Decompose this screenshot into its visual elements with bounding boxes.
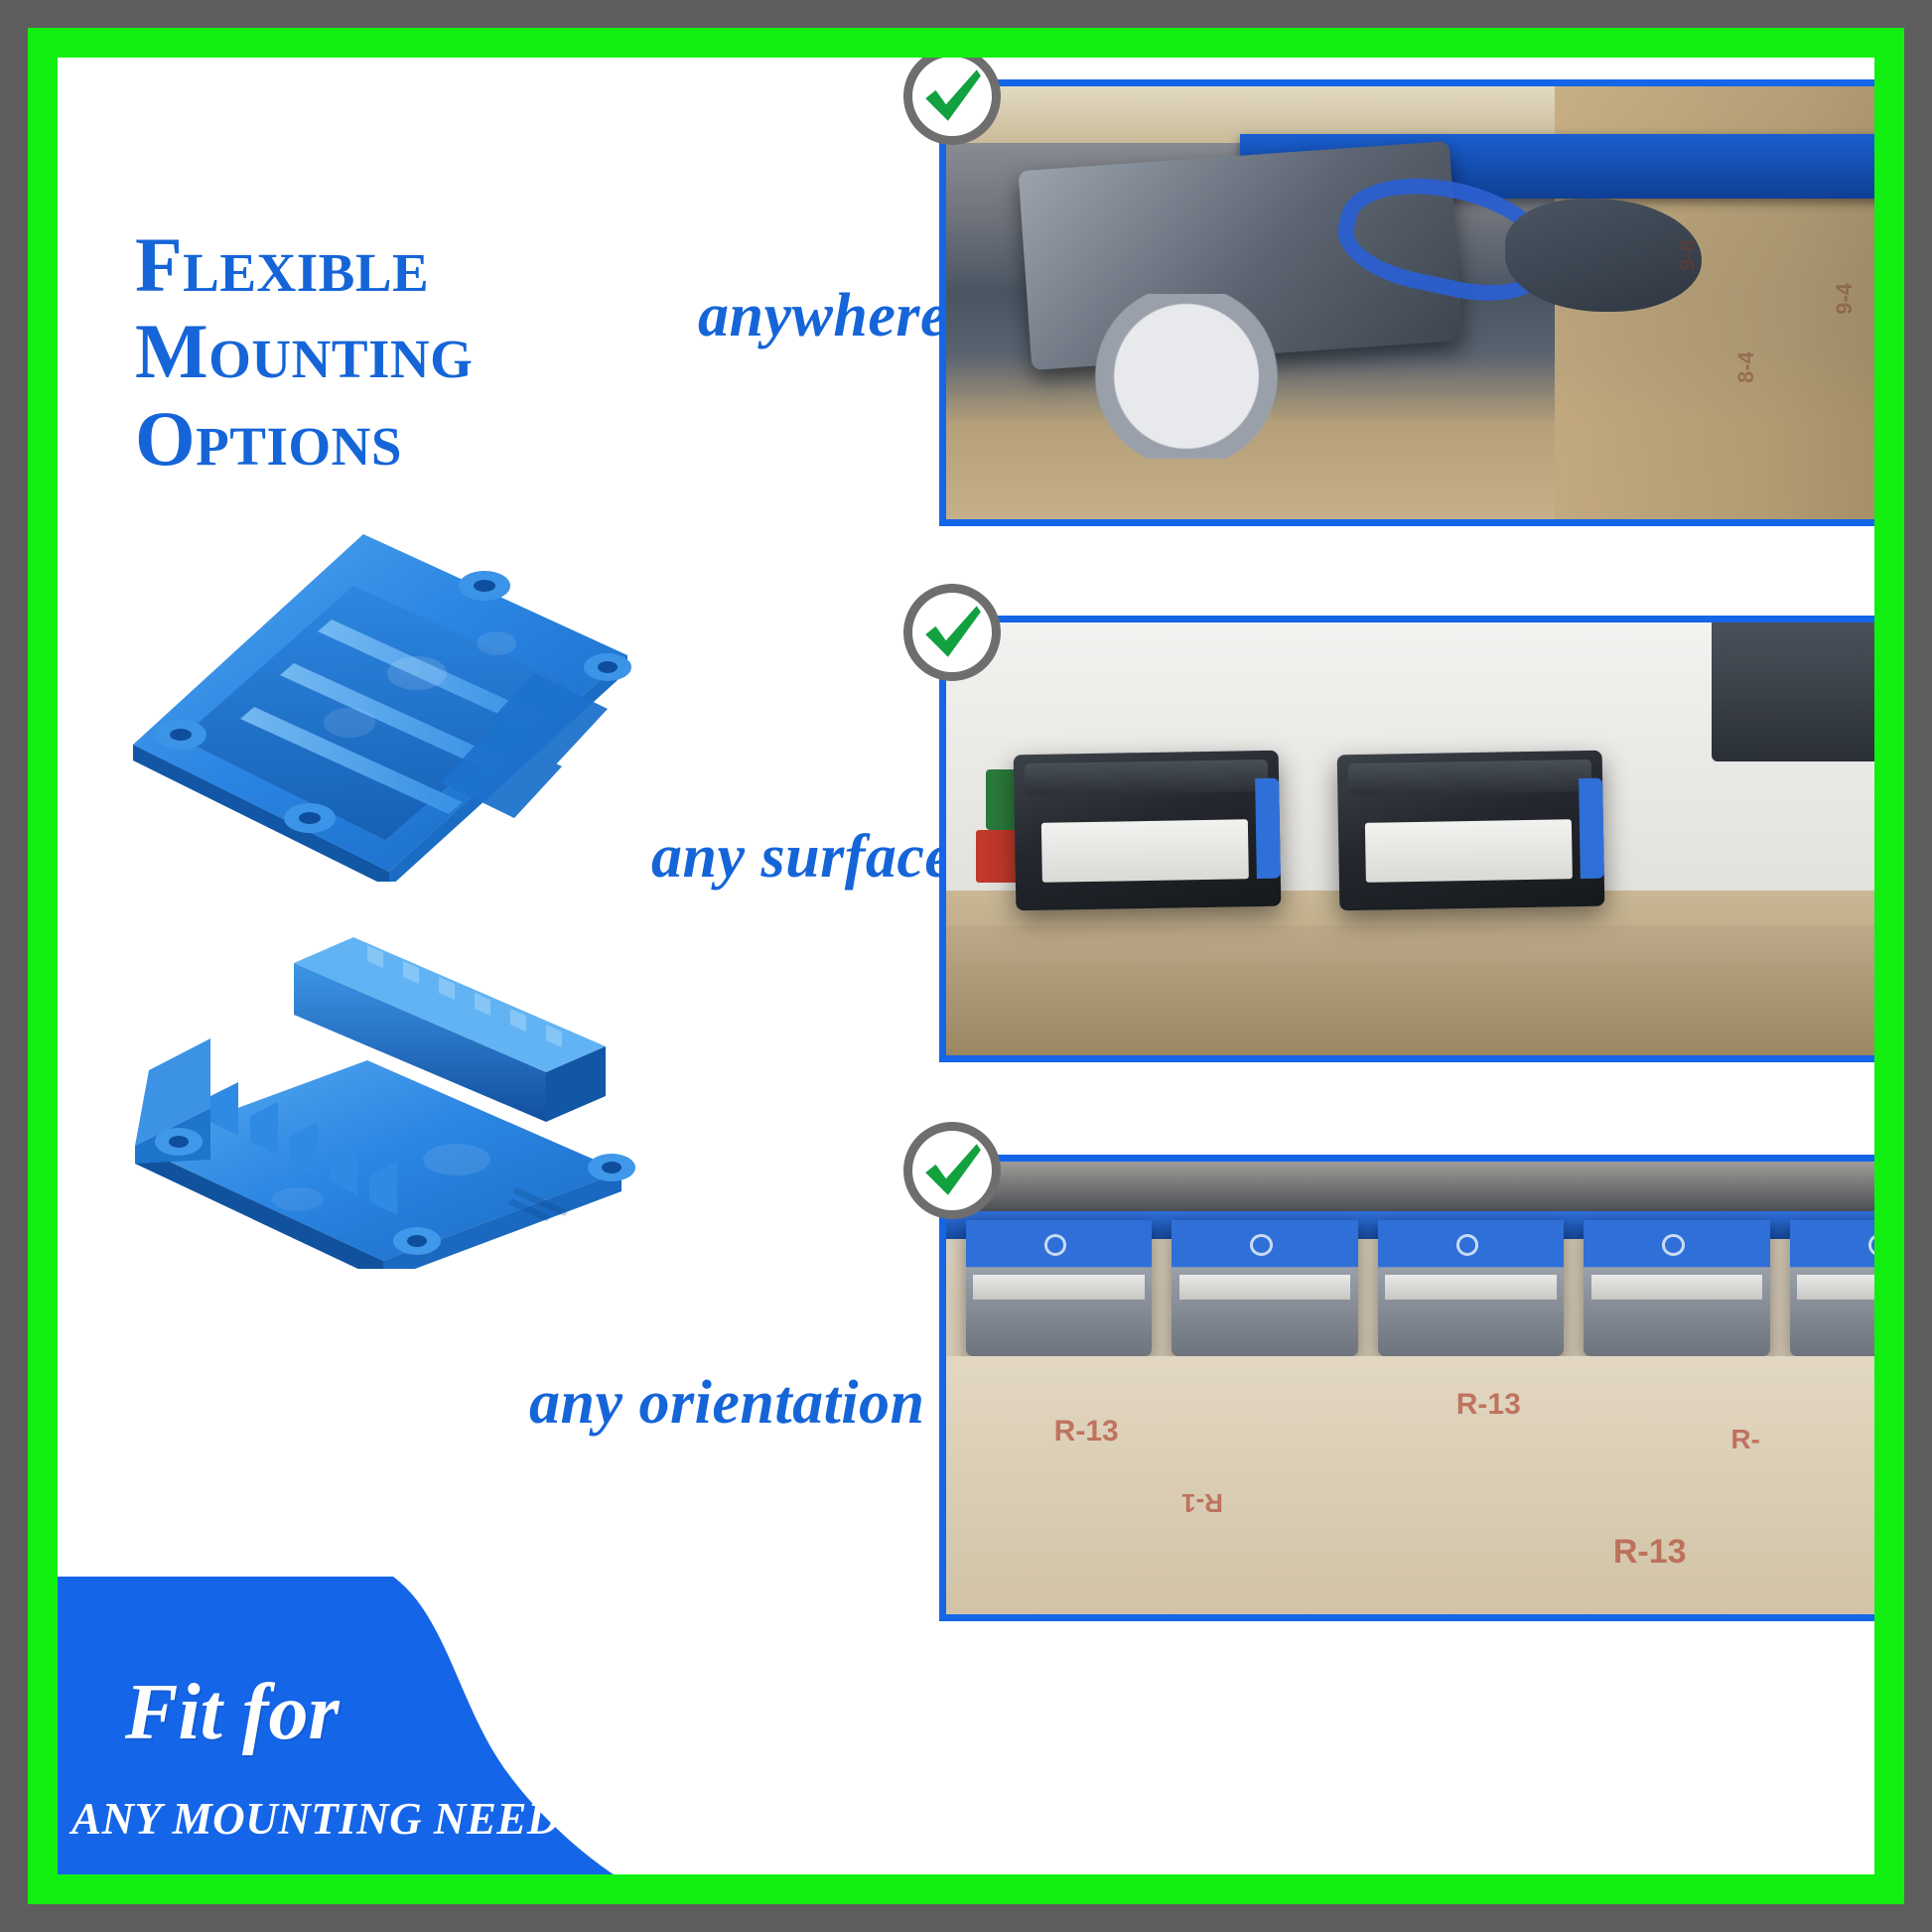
- battery-pack-3: [1378, 1220, 1565, 1356]
- green-check-icon-any-orientation: [903, 1122, 1001, 1219]
- pack-band: [1179, 1275, 1351, 1300]
- headline-line-2: Mounting: [135, 308, 651, 394]
- product-image-bracket-top: [119, 524, 635, 882]
- pack-logo: [1868, 1234, 1875, 1256]
- feature-photo-anywhere: 9-8 8-4 9-4: [939, 79, 1874, 526]
- pack-band: [1797, 1275, 1874, 1300]
- product-image-bracket-angled: [119, 911, 635, 1269]
- battery-pack-4: [1584, 1220, 1770, 1356]
- battery-cap: [1348, 759, 1592, 795]
- headline-line-1: Flexible: [135, 221, 651, 308]
- banner-title: Fit for: [125, 1668, 340, 1758]
- photo-scene-workbench: 9-8 8-4 9-4: [946, 86, 1874, 519]
- insulation-stamp-1: R-13: [1054, 1415, 1119, 1449]
- battery-accent: [1255, 778, 1281, 879]
- feature-photo-any-surface: [939, 616, 1874, 1062]
- battery-cap: [1025, 759, 1269, 795]
- insulation-stamp-2: R-13: [1456, 1388, 1521, 1422]
- battery-label: [1365, 819, 1573, 882]
- insulation-stamp-3: R-1: [1181, 1487, 1223, 1518]
- battery-pack-2: [1172, 1220, 1358, 1356]
- photo-scene-overhead: R-13 R-13 R-1 R-13 R-: [946, 1162, 1874, 1614]
- feature-photo-any-orientation: R-13 R-13 R-1 R-13 R-: [939, 1155, 1874, 1621]
- lumber-stamp-2: 8-4: [1733, 351, 1759, 383]
- pack-logo: [1250, 1234, 1273, 1256]
- fiberglass-insulation: [946, 1356, 1874, 1614]
- pack-logo: [1662, 1234, 1685, 1256]
- lumber-stamp-3: 9-4: [1832, 283, 1858, 315]
- lumber-stamp-1: 9-8: [1675, 239, 1701, 271]
- pack-band: [1385, 1275, 1557, 1300]
- battery-pack-left: [1014, 750, 1281, 910]
- pack-logo: [1456, 1234, 1479, 1256]
- saw-blade: [1054, 294, 1319, 459]
- shelf-face: [946, 925, 1874, 1055]
- insulation-stamp-5: R-: [1730, 1424, 1760, 1455]
- banner-subtitle: ANY MOUNTING NEED: [71, 1793, 560, 1845]
- product-infographic: Flexible Mounting Options: [0, 0, 1932, 1932]
- pack-logo: [1044, 1234, 1067, 1256]
- pack-band: [1591, 1275, 1763, 1300]
- battery-pack-right: [1337, 750, 1604, 910]
- poster-canvas: Flexible Mounting Options: [58, 58, 1874, 1874]
- battery-accent: [1579, 778, 1604, 879]
- feature-caption-anywhere: anywhere: [698, 281, 948, 351]
- headline-line-3: Options: [135, 395, 651, 482]
- page-title: Flexible Mounting Options: [135, 221, 651, 482]
- battery-pack-5: [1790, 1220, 1874, 1356]
- feature-caption-any-surface: any surface: [651, 822, 952, 893]
- pack-band: [973, 1275, 1145, 1300]
- bottom-banner: Fit for ANY MOUNTING NEED: [58, 1577, 614, 1874]
- battery-pack-1: [966, 1220, 1153, 1356]
- green-check-icon-any-surface: [903, 584, 1001, 681]
- impact-driver: [1712, 616, 1874, 761]
- photo-scene-wall: [946, 622, 1874, 1055]
- insulation-stamp-4: R-13: [1613, 1533, 1687, 1572]
- battery-label: [1041, 819, 1249, 882]
- feature-caption-any-orientation: any orientation: [529, 1368, 925, 1439]
